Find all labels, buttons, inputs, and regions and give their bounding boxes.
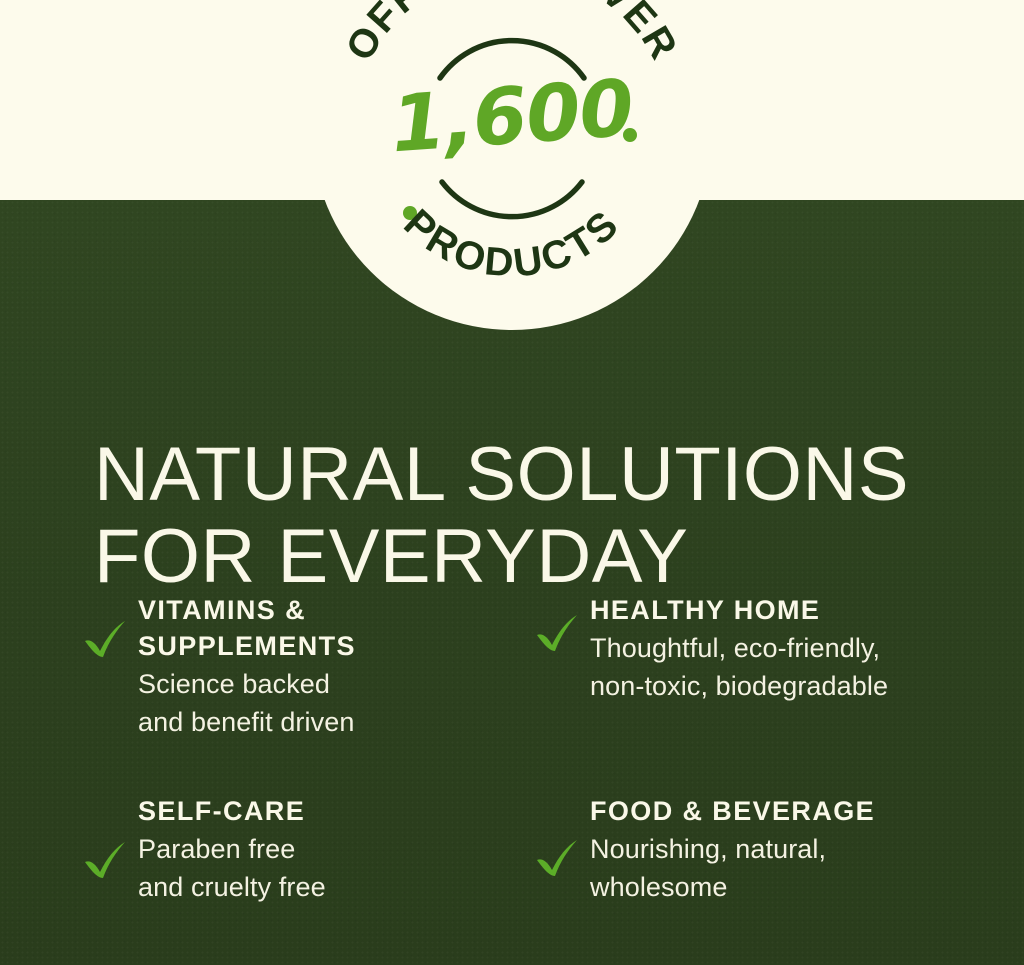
badge-arc-lower	[442, 182, 582, 217]
badge-arc-bottom-text: PRODUCTS	[396, 201, 629, 286]
feature-item-food-beverage: FOOD & BEVERAGE Nourishing, natural, who…	[534, 793, 992, 906]
feature-item-healthy-home: HEALTHY HOME Thoughtful, eco-friendly, n…	[534, 592, 992, 741]
check-icon	[534, 612, 580, 654]
feature-title: SELF-CARE	[138, 793, 534, 829]
feature-item-self-care: SELF-CARE Paraben free and cruelty free	[82, 793, 534, 906]
feature-title: HEALTHY HOME	[590, 592, 992, 628]
feature-description: Science backed and benefit driven	[138, 665, 534, 741]
promo-poster: OFFERING OVER PRODUCTS 1,600 NATURAL SOL…	[0, 0, 1024, 965]
feature-description: Paraben free and cruelty free	[138, 830, 534, 906]
badge-arc-top-text: OFFERING OVER	[338, 0, 687, 68]
page-title: NATURAL SOLUTIONS FOR EVERYDAY	[94, 434, 974, 598]
headline-line-2: FOR EVERYDAY	[94, 516, 974, 598]
check-icon	[82, 839, 128, 881]
offering-badge: OFFERING OVER PRODUCTS 1,600	[312, 0, 712, 330]
feature-description: Thoughtful, eco-friendly, non-toxic, bio…	[590, 629, 992, 705]
feature-list: VITAMINS & SUPPLEMENTS Science backed an…	[82, 592, 992, 906]
headline-line-1: NATURAL SOLUTIONS	[94, 434, 974, 516]
feature-description: Nourishing, natural, wholesome	[590, 830, 992, 906]
feature-item-vitamins-supplements: VITAMINS & SUPPLEMENTS Science backed an…	[82, 592, 534, 741]
check-icon	[534, 837, 580, 879]
check-icon	[82, 618, 128, 660]
feature-title: FOOD & BEVERAGE	[590, 793, 992, 829]
feature-title: VITAMINS & SUPPLEMENTS	[138, 592, 534, 664]
